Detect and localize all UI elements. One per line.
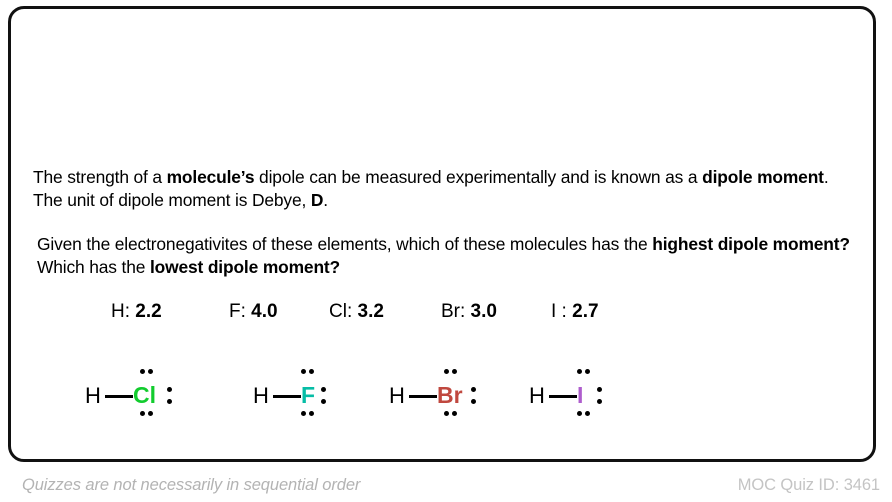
electronegativity-element-label: Cl: bbox=[329, 301, 352, 322]
intro-paragraph: The strength of a molecule’s dipole can … bbox=[33, 166, 861, 212]
lewis-halogen-label: F bbox=[301, 383, 315, 407]
electronegativity-value: 4.0 bbox=[246, 301, 278, 322]
lewis-halogen-label: I bbox=[577, 383, 583, 407]
electronegativity-element-label: H: bbox=[111, 301, 130, 322]
lone-pair-dot bbox=[301, 411, 306, 416]
question-text-1: Given the electronegativites of these el… bbox=[37, 234, 652, 254]
lone-pair-dot bbox=[452, 411, 457, 416]
lewis-hydrogen-label: H bbox=[529, 385, 545, 407]
lone-pair-dot bbox=[585, 369, 590, 374]
lewis-single-bond bbox=[105, 395, 133, 398]
question-text-2: Which has the bbox=[37, 257, 150, 277]
lewis-hydrogen-label: H bbox=[253, 385, 269, 407]
electronegativity-value: 3.2 bbox=[352, 301, 384, 322]
lone-pair-dot bbox=[167, 399, 172, 404]
electronegativity-element-label: Br: bbox=[441, 301, 465, 322]
lewis-single-bond bbox=[549, 395, 577, 398]
lone-pair-dot bbox=[577, 369, 582, 374]
footer-note: Quizzes are not necessarily in sequentia… bbox=[22, 476, 360, 495]
lone-pair-dot bbox=[597, 399, 602, 404]
electronegativity-item: Br: 3.0 bbox=[441, 301, 497, 323]
lewis-halogen-label: Cl bbox=[133, 383, 156, 407]
lone-pair-dot bbox=[471, 399, 476, 404]
intro-text-2: dipole can be measured experimentally an… bbox=[254, 167, 702, 187]
lone-pair-dot bbox=[140, 411, 145, 416]
lewis-structures-row: HClHFHBrHI bbox=[11, 361, 892, 431]
lone-pair-dot bbox=[577, 411, 582, 416]
lone-pair-dot bbox=[444, 411, 449, 416]
intro-text-1: The strength of a bbox=[33, 167, 167, 187]
lone-pair-dot bbox=[140, 369, 145, 374]
lone-pair-dot bbox=[309, 369, 314, 374]
electronegativity-row: H: 2.2F: 4.0Cl: 3.2Br: 3.0I : 2.7 bbox=[111, 301, 631, 331]
electronegativity-element-label: F: bbox=[229, 301, 246, 322]
lewis-hydrogen-label: H bbox=[85, 385, 101, 407]
lone-pair-dot bbox=[597, 387, 602, 392]
lone-pair-dot bbox=[148, 411, 153, 416]
electronegativity-item: F: 4.0 bbox=[229, 301, 278, 323]
electronegativity-value: 2.2 bbox=[130, 301, 162, 322]
lone-pair-dot bbox=[471, 387, 476, 392]
lone-pair-dot bbox=[585, 411, 590, 416]
question-bold-lowest: lowest dipole moment? bbox=[150, 257, 340, 277]
footer-quiz-id: MOC Quiz ID: 3461 bbox=[738, 476, 880, 495]
lone-pair-dot bbox=[321, 387, 326, 392]
lewis-structure: HI bbox=[529, 361, 699, 431]
lone-pair-dot bbox=[444, 369, 449, 374]
electronegativity-value: 2.7 bbox=[567, 301, 599, 322]
electronegativity-value: 3.0 bbox=[465, 301, 497, 322]
intro-bold-debye-symbol: D bbox=[311, 190, 323, 210]
electronegativity-item: H: 2.2 bbox=[111, 301, 162, 323]
electronegativity-item: Cl: 3.2 bbox=[329, 301, 384, 323]
lone-pair-dot bbox=[167, 387, 172, 392]
lone-pair-dot bbox=[309, 411, 314, 416]
question-bold-highest: highest dipole moment? bbox=[652, 234, 850, 254]
electronegativity-element-label: I : bbox=[551, 301, 567, 322]
intro-text-4: . bbox=[323, 190, 328, 210]
question-paragraph: Given the electronegativites of these el… bbox=[37, 233, 857, 279]
lone-pair-dot bbox=[452, 369, 457, 374]
lewis-hydrogen-label: H bbox=[389, 385, 405, 407]
lone-pair-dot bbox=[301, 369, 306, 374]
lewis-halogen-label: Br bbox=[437, 383, 463, 407]
intro-bold-dipole-moment: dipole moment bbox=[702, 167, 824, 187]
lewis-single-bond bbox=[409, 395, 437, 398]
quiz-card: The strength of a molecule’s dipole can … bbox=[8, 6, 876, 462]
intro-bold-molecules: molecule’s bbox=[167, 167, 255, 187]
lewis-single-bond bbox=[273, 395, 301, 398]
electronegativity-item: I : 2.7 bbox=[551, 301, 599, 323]
lone-pair-dot bbox=[321, 399, 326, 404]
lewis-structure: HCl bbox=[85, 361, 255, 431]
lone-pair-dot bbox=[148, 369, 153, 374]
